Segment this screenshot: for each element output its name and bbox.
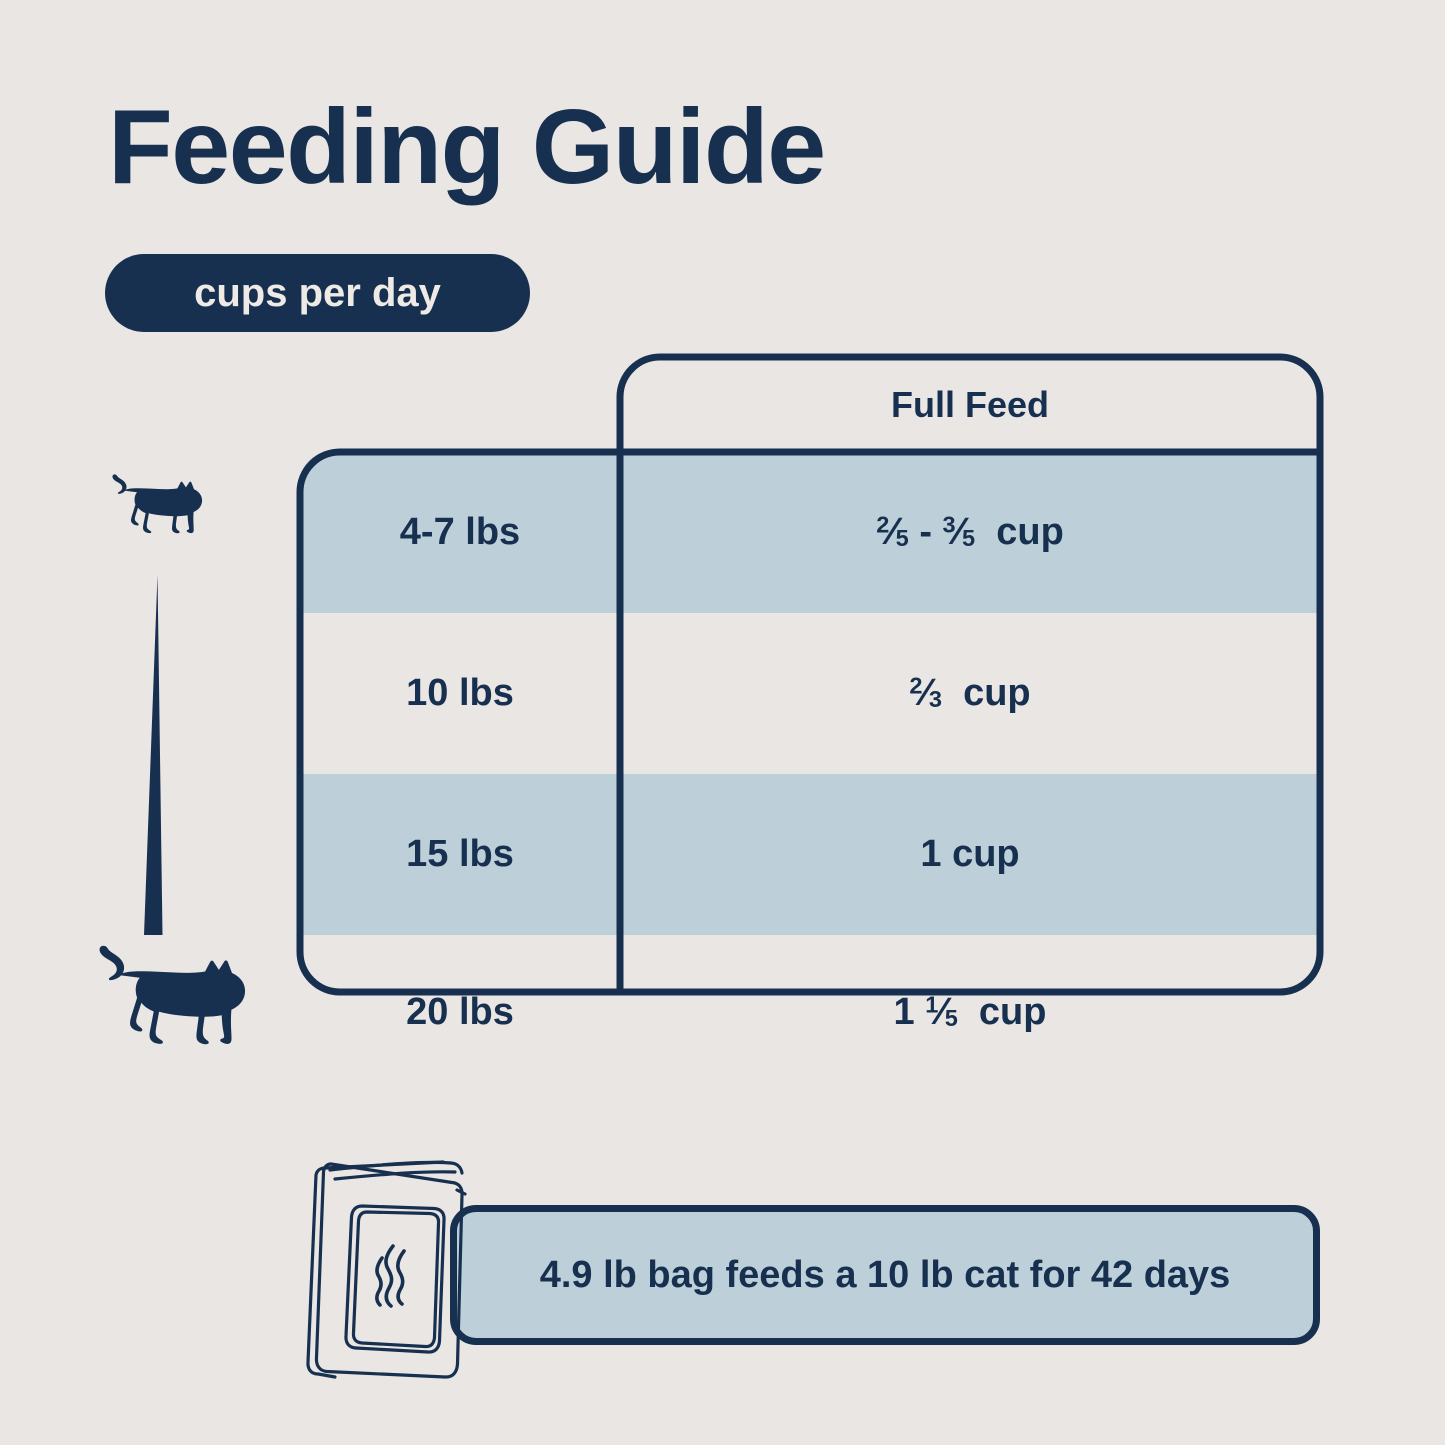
units-badge: cups per day [105,254,530,332]
flame-swirl-logo-icon [377,1246,404,1306]
whole-number: 1 [894,991,915,1033]
cell-amount: 1 1⁄5 cup [620,935,1320,1089]
weight-value: 4-7 lbs [400,511,520,554]
cat-size-scale [78,462,278,1102]
unit-value: cup [996,511,1064,553]
bag-duration-banner: 4.9 lb bag feeds a 10 lb cat for 42 days [450,1205,1320,1345]
amount-value: 1 cup [920,833,1019,876]
numerator: 2 [909,673,922,699]
feeding-table: Full Feed 4-7 lbs 2⁄5 - 3⁄5 cup 10 lbs 2… [300,355,1320,1089]
amount-value: 2⁄5 - 3⁄5 cup [876,511,1064,554]
unit-spacer [942,833,953,875]
denominator: 5 [896,525,909,551]
table-header-full-feed: Full Feed [620,357,1320,452]
cell-amount: 2⁄5 - 3⁄5 cup [620,452,1320,613]
cell-weight: 4-7 lbs [300,452,620,613]
denominator: 5 [945,1004,958,1030]
units-badge-label: cups per day [194,271,441,316]
unit-spacer [958,991,979,1033]
unit-value: cup [979,991,1047,1033]
table-row: 15 lbs 1 cup [300,774,1320,935]
weight-value: 20 lbs [406,991,514,1034]
whole-number: 1 [920,833,941,875]
cell-weight: 10 lbs [300,613,620,774]
table-row: 10 lbs 2⁄3 cup [300,613,1320,774]
cell-weight: 15 lbs [300,774,620,935]
cat-large-icon [83,940,251,1050]
amount-value: 2⁄3 cup [909,672,1030,715]
table-rows: 4-7 lbs 2⁄5 - 3⁄5 cup 10 lbs 2⁄3 cup 15 … [300,452,1320,1089]
cell-weight: 20 lbs [300,935,620,1089]
table-row: 4-7 lbs 2⁄5 - 3⁄5 cup [300,452,1320,613]
food-bag-icon [305,1150,480,1385]
numerator-2: 3 [943,512,956,538]
table-row: 20 lbs 1 1⁄5 cup [300,935,1320,1089]
unit-spacer [942,672,963,714]
unit-value: cup [963,672,1031,714]
feeding-guide-infographic: Feeding Guide cups per day [0,0,1445,1445]
cat-small-icon [103,470,211,538]
cell-amount: 2⁄3 cup [620,613,1320,774]
page-title: Feeding Guide [108,92,825,203]
weight-value: 10 lbs [406,672,514,715]
range-separator: - [909,511,943,553]
cell-amount: 1 cup [620,774,1320,935]
denominator-2: 5 [962,525,975,551]
weight-value: 15 lbs [406,833,514,876]
header-label: Full Feed [891,384,1049,426]
size-scale-wedge-icon [136,575,180,935]
bag-duration-text: 4.9 lb bag feeds a 10 lb cat for 42 days [540,1254,1231,1297]
unit-value: cup [952,833,1020,875]
whole-spacer [915,991,926,1033]
numerator: 2 [876,512,889,538]
numerator: 1 [925,991,938,1017]
unit-label [975,511,996,553]
denominator: 3 [929,686,942,712]
amount-value: 1 1⁄5 cup [894,991,1047,1034]
